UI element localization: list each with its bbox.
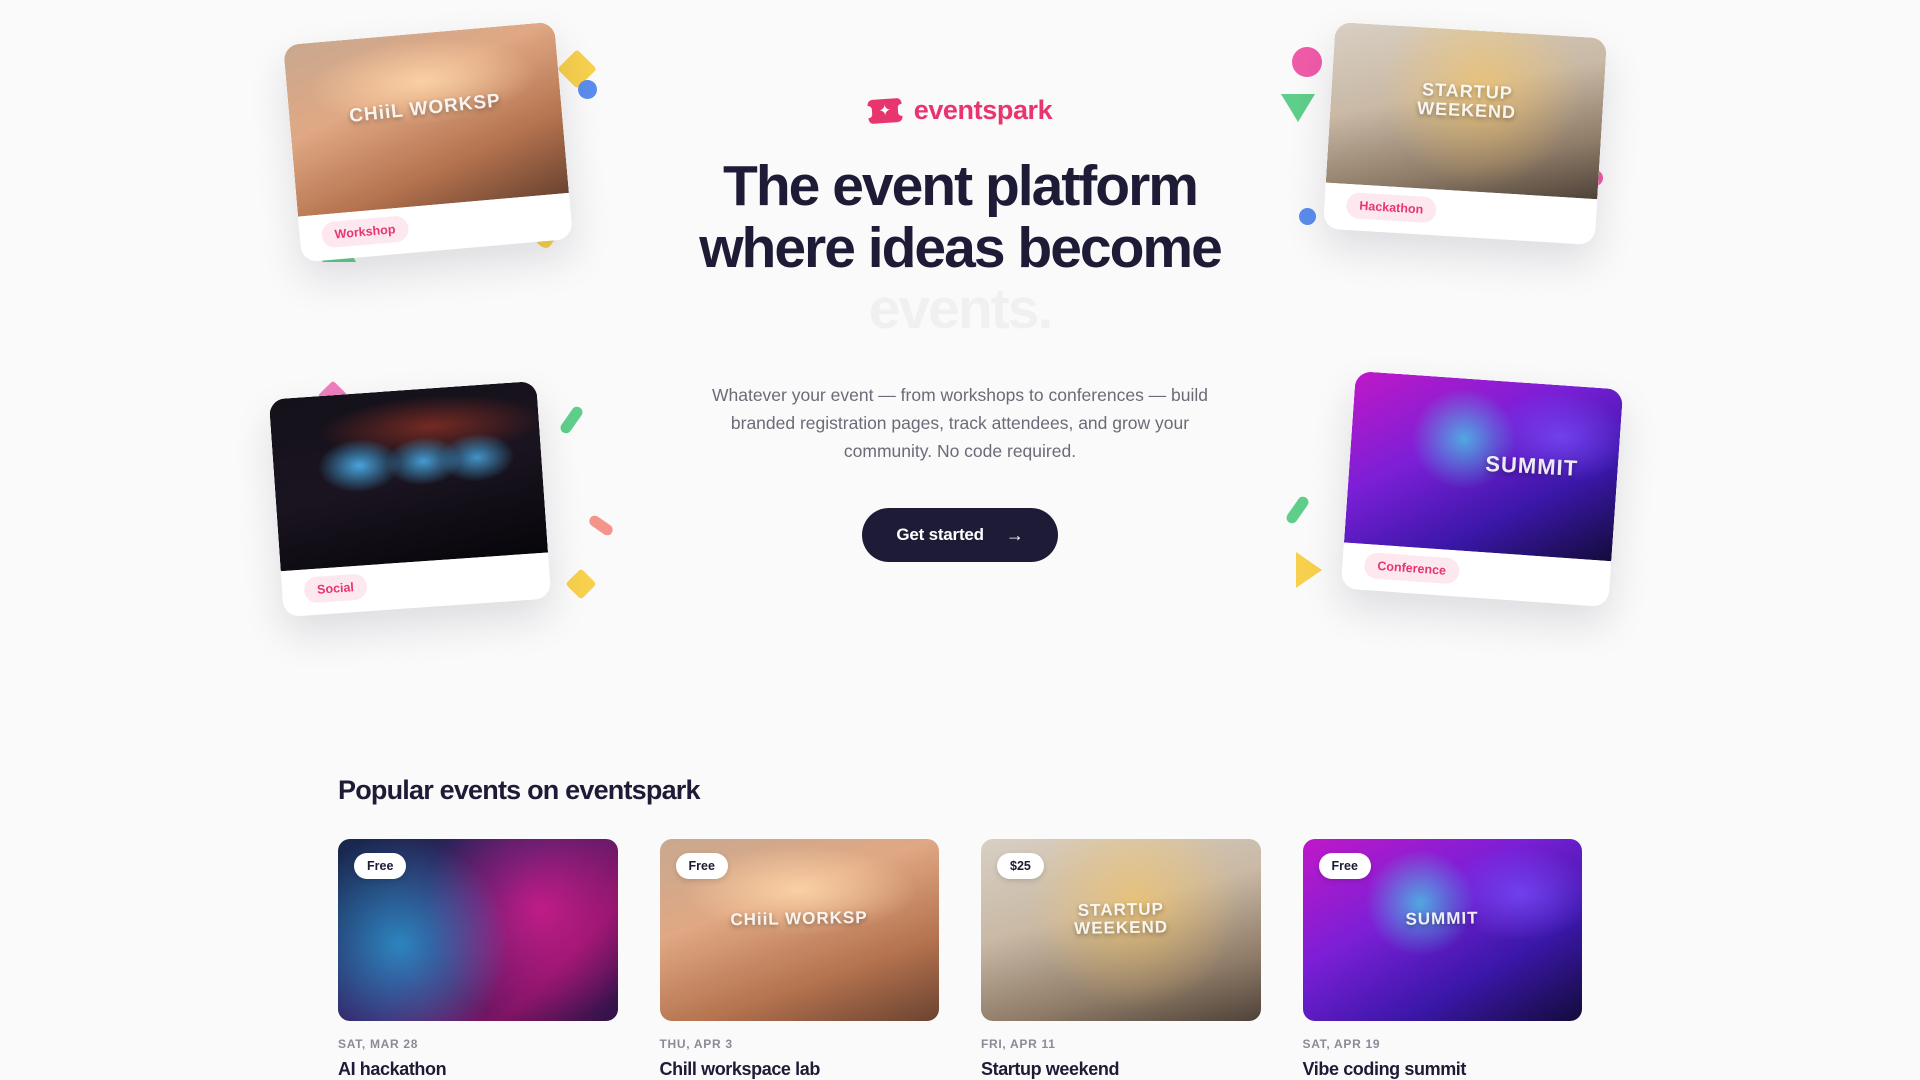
event-card-photo-text: CHiiL WORKSP (730, 909, 868, 929)
hero-card-social-photo (269, 381, 548, 571)
hero-card-conference-photo: SUMMIT (1344, 371, 1623, 561)
event-title: Chill workspace lab (660, 1059, 940, 1080)
event-card-photo-text: SUMMIT (1406, 910, 1479, 929)
photo-text-workshop: CHiiL WORKSP (348, 90, 502, 128)
event-price-badge: $25 (997, 853, 1044, 879)
popular-events-section: Popular events on eventspark FreeSAT, MA… (0, 735, 1920, 1080)
hero-card-workshop-badge: Workshop (321, 215, 410, 248)
event-card[interactable]: CHiiL WORKSPFreeTHU, APR 3Chill workspac… (660, 839, 940, 1080)
photo-text-hackathon: STARTUP WEEKEND (1417, 80, 1518, 122)
blue-circle-shape (578, 80, 597, 99)
event-price-badge: Free (676, 853, 728, 879)
page-title: The event platform where ideas become ev… (610, 156, 1310, 341)
event-date: THU, APR 3 (660, 1037, 940, 1051)
hero-card-workshop[interactable]: CHiiL WORKSP Workshop (283, 22, 573, 263)
brand-logo[interactable]: ✦ eventspark (610, 95, 1310, 126)
hero-card-hackathon-photo: STARTUP WEEKEND (1326, 22, 1607, 199)
event-card-image: CHiiL WORKSPFree (660, 839, 940, 1021)
hero-card-social[interactable]: Social (269, 381, 552, 617)
event-card[interactable]: FreeSAT, MAR 28AI hackathon (338, 839, 618, 1080)
green-slash-shape (558, 405, 584, 436)
get-started-button[interactable]: Get started → (862, 508, 1057, 562)
hero-card-workshop-photo: CHiiL WORKSP (283, 22, 569, 217)
event-date: FRI, APR 11 (981, 1037, 1261, 1051)
hero-card-conference[interactable]: SUMMIT Conference (1341, 371, 1624, 607)
event-title: Startup weekend (981, 1059, 1261, 1080)
ticket-spark-icon: ✦ (867, 97, 903, 123)
event-title: AI hackathon (338, 1059, 618, 1080)
brand-name: eventspark (914, 95, 1053, 126)
get-started-label: Get started (896, 525, 984, 545)
popular-events-title: Popular events on eventspark (338, 775, 1582, 806)
hero-section: CHiiL WORKSP Workshop STARTUP WEEKEND Ha… (0, 0, 1920, 735)
event-price-badge: Free (354, 853, 406, 879)
hero-subtitle: Whatever your event — from workshops to … (705, 381, 1215, 466)
hero-title-line-2: where ideas become (699, 216, 1221, 280)
hero-card-hackathon-badge: Hackathon (1346, 192, 1437, 223)
pink-circle-shape (1292, 47, 1322, 77)
event-card-image: SUMMITFree (1303, 839, 1583, 1021)
event-card[interactable]: STARTUP WEEKEND$25FRI, APR 11Startup wee… (981, 839, 1261, 1080)
hero-title-line-3: events. (869, 277, 1051, 341)
photo-text-conference: SUMMIT (1485, 451, 1579, 482)
event-date: SAT, APR 19 (1303, 1037, 1583, 1051)
event-card[interactable]: SUMMITFreeSAT, APR 19Vibe coding summit (1303, 839, 1583, 1080)
events-grid: FreeSAT, MAR 28AI hackathonCHiiL WORKSPF… (338, 839, 1582, 1080)
hero-content: ✦ eventspark The event platform where id… (610, 95, 1310, 562)
hero-title-line-1: The event platform (723, 154, 1197, 218)
event-price-badge: Free (1319, 853, 1371, 879)
event-card-image: Free (338, 839, 618, 1021)
yellow-square-shape (565, 568, 596, 599)
event-title: Vibe coding summit (1303, 1059, 1583, 1080)
hero-card-hackathon[interactable]: STARTUP WEEKEND Hackathon (1323, 22, 1607, 245)
event-card-image: STARTUP WEEKEND$25 (981, 839, 1261, 1021)
event-card-photo-text: STARTUP WEEKEND (1073, 900, 1168, 937)
landing-page: CHiiL WORKSP Workshop STARTUP WEEKEND Ha… (0, 0, 1920, 1080)
arrow-right-icon: → (1006, 526, 1024, 544)
hero-card-conference-badge: Conference (1364, 552, 1460, 585)
event-date: SAT, MAR 28 (338, 1037, 618, 1051)
hero-card-social-badge: Social (303, 573, 367, 603)
